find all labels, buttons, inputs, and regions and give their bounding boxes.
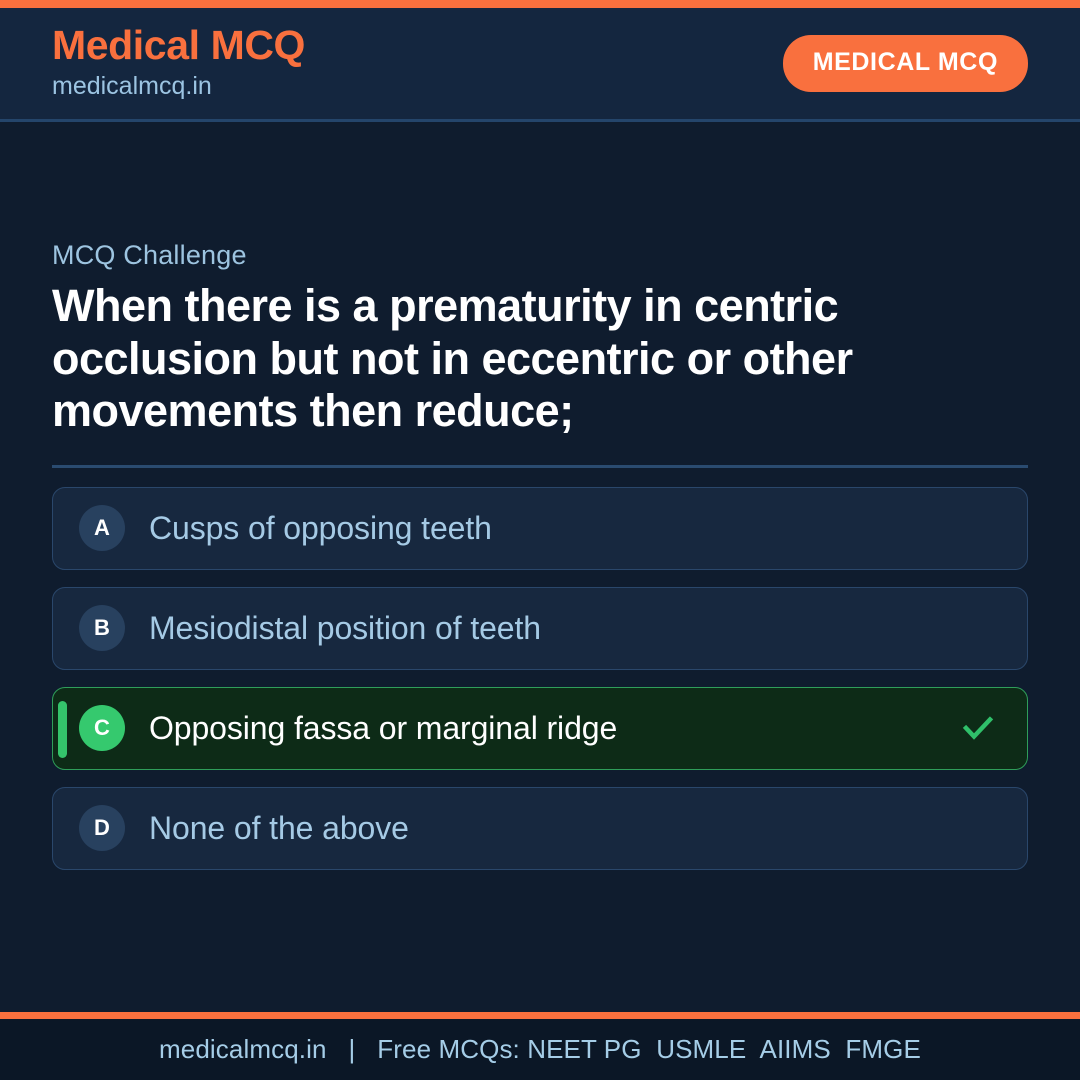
question-divider — [52, 465, 1028, 468]
brand-block: Medical MCQ medicalmcq.in — [52, 24, 305, 104]
mcq-card: Medical MCQ medicalmcq.in MEDICAL MCQ MC… — [0, 0, 1080, 1080]
option-key-a: A — [79, 505, 125, 551]
header-bar: Medical MCQ medicalmcq.in MEDICAL MCQ — [0, 8, 1080, 122]
option-label-d: None of the above — [149, 810, 409, 847]
brand-title: Medical MCQ — [52, 24, 305, 67]
footer-accent-rule — [0, 1012, 1080, 1019]
option-row-a[interactable]: A Cusps of opposing teeth — [52, 487, 1028, 570]
eyebrow-label: MCQ Challenge — [52, 240, 1028, 271]
question-text: When there is a prematurity in centric o… — [52, 280, 952, 438]
body-spacer — [52, 870, 1028, 1012]
option-key-d: D — [79, 805, 125, 851]
option-key-c: C — [79, 705, 125, 751]
top-accent-rule — [0, 0, 1080, 8]
option-label-c: Opposing fassa or marginal ridge — [149, 710, 617, 747]
brand-pill-badge: MEDICAL MCQ — [783, 35, 1028, 92]
option-row-b[interactable]: B Mesiodistal position of teeth — [52, 587, 1028, 670]
footer-bar: medicalmcq.in | Free MCQs: NEET PG USMLE… — [0, 1019, 1080, 1080]
option-label-a: Cusps of opposing teeth — [149, 510, 492, 547]
brand-subtitle: medicalmcq.in — [52, 70, 305, 104]
option-key-b: B — [79, 605, 125, 651]
correct-accent-bar — [58, 701, 67, 758]
options-list: A Cusps of opposing teeth B Mesiodistal … — [52, 487, 1028, 870]
footer-text: medicalmcq.in | Free MCQs: NEET PG USMLE… — [159, 1034, 921, 1065]
question-body: MCQ Challenge When there is a prematurit… — [0, 122, 1080, 1012]
option-row-c[interactable]: C Opposing fassa or marginal ridge — [52, 687, 1028, 770]
option-row-d[interactable]: D None of the above — [52, 787, 1028, 870]
check-icon — [959, 709, 997, 747]
option-label-b: Mesiodistal position of teeth — [149, 610, 541, 647]
